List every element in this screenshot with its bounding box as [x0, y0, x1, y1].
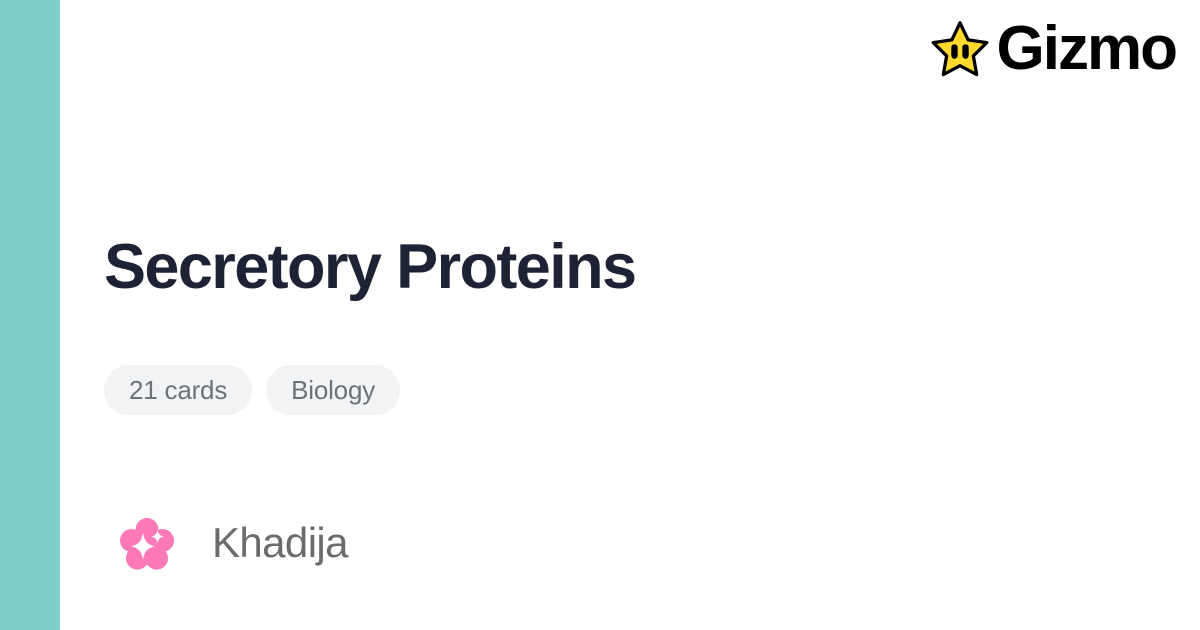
accent-bar — [0, 0, 60, 630]
author-row[interactable]: Khadija — [118, 514, 348, 572]
page-title: Secretory Proteins — [104, 233, 635, 301]
flower-sparkle-avatar-icon — [118, 514, 176, 572]
author-name: Khadija — [212, 522, 348, 564]
subject-badge: Biology — [266, 365, 400, 415]
set-info-panel: Secretory Proteins 21 cards Biology Khad… — [104, 0, 1104, 630]
share-card-canvas: Gizmo Secretory Proteins 21 cards Biolog… — [0, 0, 1200, 630]
card-count-badge: 21 cards — [104, 365, 252, 415]
meta-badge-row: 21 cards Biology — [104, 365, 400, 415]
